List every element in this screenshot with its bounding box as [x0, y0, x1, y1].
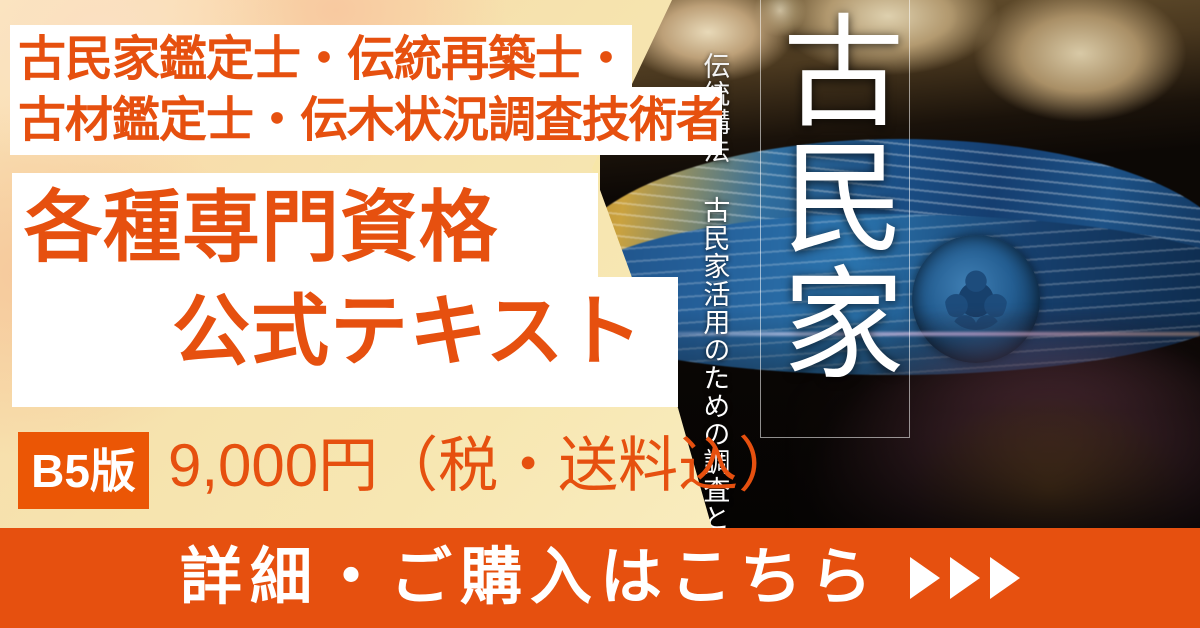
cover-title-kanji: 古民家: [770, 8, 902, 386]
chevron-right-icon: [910, 557, 940, 599]
chevron-right-icon: [950, 557, 980, 599]
headline-line2: 古材鑑定士・伝木状況調査技術者: [18, 97, 723, 145]
chevron-right-icon: [990, 557, 1020, 599]
format-badge-label: B5版: [31, 448, 136, 494]
main-title-line1: 各種専門資格: [24, 188, 498, 266]
promo-banner[interactable]: 古民家 伝統構法 古民家活用のための調査と再生の 古民家鑑定士・伝統再築士・ 古…: [0, 0, 1200, 628]
format-badge: B5版: [18, 432, 149, 509]
cta-bar[interactable]: 詳細・ご購入はこちら: [0, 528, 1200, 628]
cta-label: 詳細・ご購入はこちら: [180, 547, 880, 609]
main-title-line2: 公式テキスト: [172, 292, 644, 370]
price-text: 9,000円（税・送料込）: [168, 436, 798, 496]
cta-arrows: [910, 557, 1020, 599]
headline-line1: 古民家鑑定士・伝統再築士・: [18, 36, 629, 84]
